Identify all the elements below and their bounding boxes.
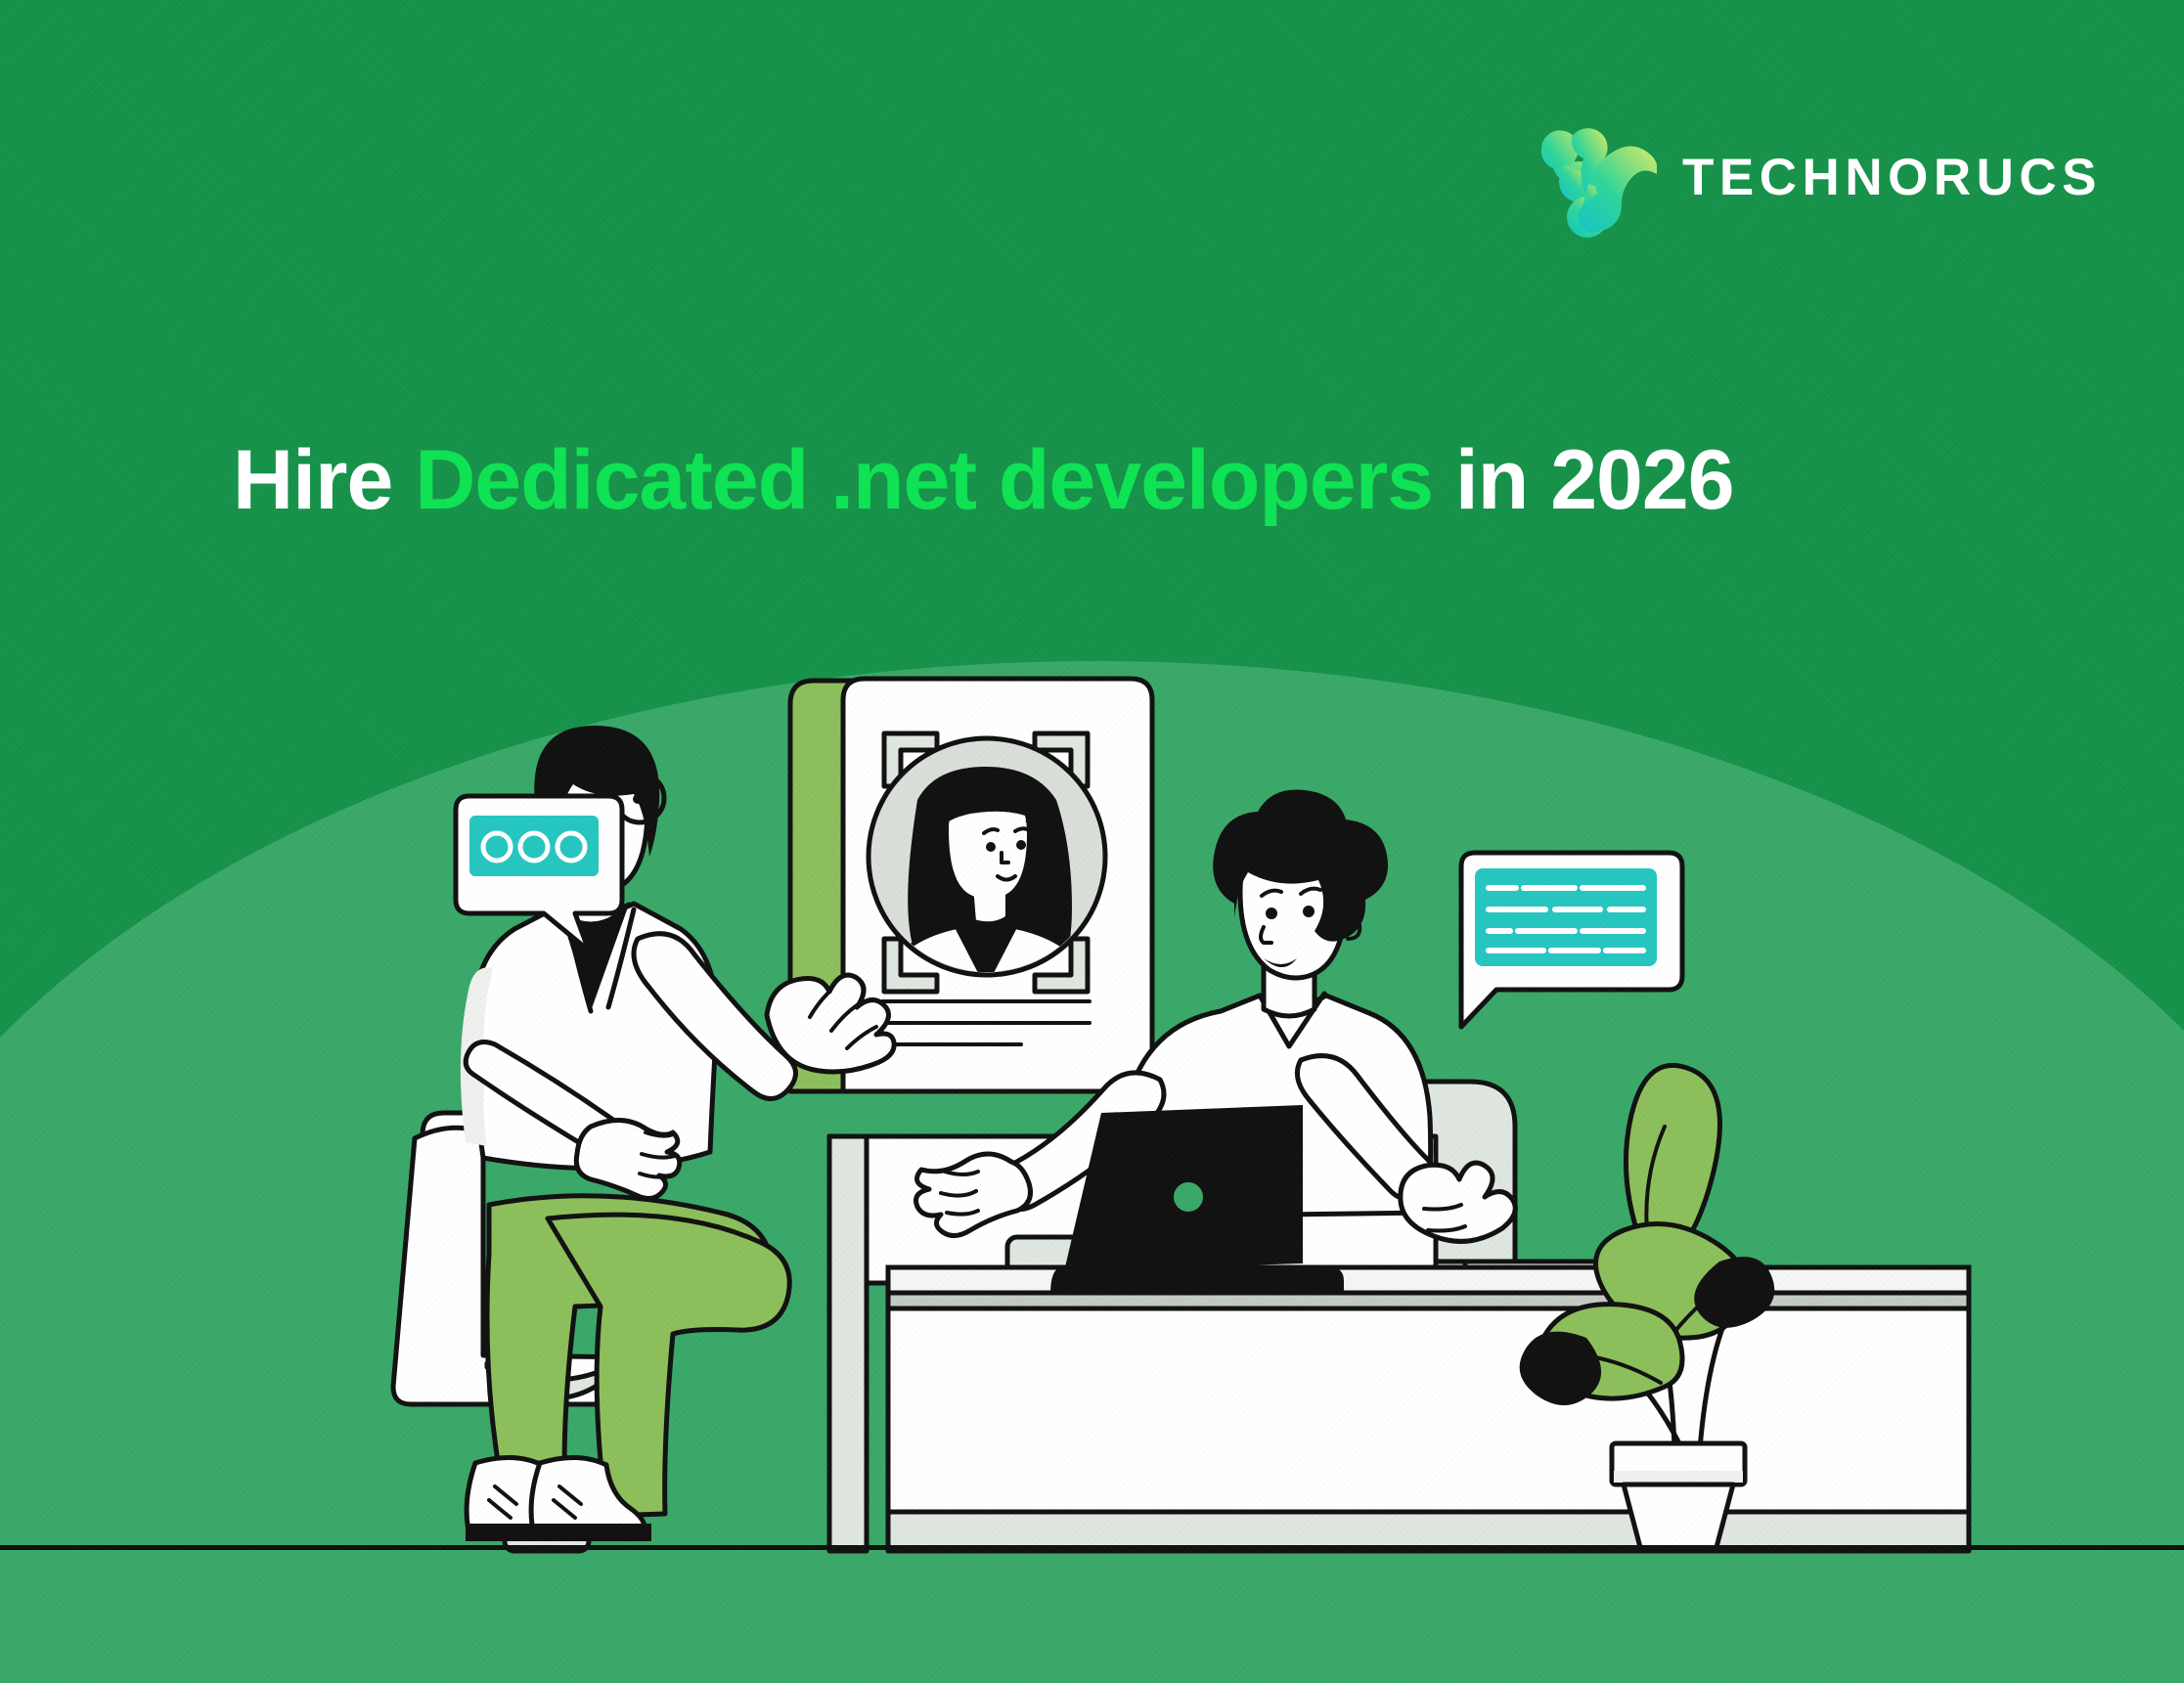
headline-part-plain-lead: Hire (233, 433, 415, 527)
ground-line (0, 1545, 2184, 1550)
headline-part-accent: Dedicated .net developers (415, 433, 1433, 527)
right-speech-bubble (1461, 853, 1682, 1027)
brand-logo[interactable]: TECHNORUCS (1532, 115, 2102, 239)
brand-wordmark: TECHNORUCS (1682, 152, 2102, 203)
molecule-node-logo-icon (1532, 115, 1657, 239)
headline-part-plain-tail: in 2026 (1433, 433, 1734, 527)
illustration-scene: .ln { fill:none; stroke:#111; stroke-wid… (0, 0, 2184, 1683)
banner-root: .ln { fill:none; stroke:#111; stroke-wid… (0, 0, 2184, 1683)
page-title: Hire Dedicated .net developers in 2026 (233, 433, 1734, 527)
